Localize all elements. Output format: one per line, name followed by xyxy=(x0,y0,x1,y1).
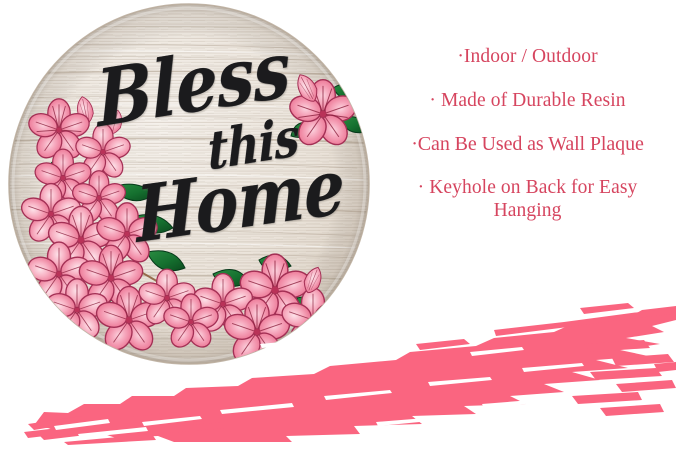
feature-item-durable-resin: · Made of Durable Resin xyxy=(378,90,677,113)
brush-stroke-illustration xyxy=(24,300,679,445)
feature-item-keyhole-hanging: · Keyhole on Back for Easy Hanging xyxy=(378,177,677,222)
feature-bullet-list: ·Indoor / Outdoor · Made of Durable Resi… xyxy=(378,46,677,223)
feature-item-wall-plaque: ·Can Be Used as Wall Plaque xyxy=(378,133,677,156)
feature-item-indoor-outdoor: ·Indoor / Outdoor xyxy=(378,46,677,69)
pink-paint-swash xyxy=(24,300,679,445)
product-image-canvas: Bless this Home ·Indoor / Outdoor · Made… xyxy=(0,0,679,458)
